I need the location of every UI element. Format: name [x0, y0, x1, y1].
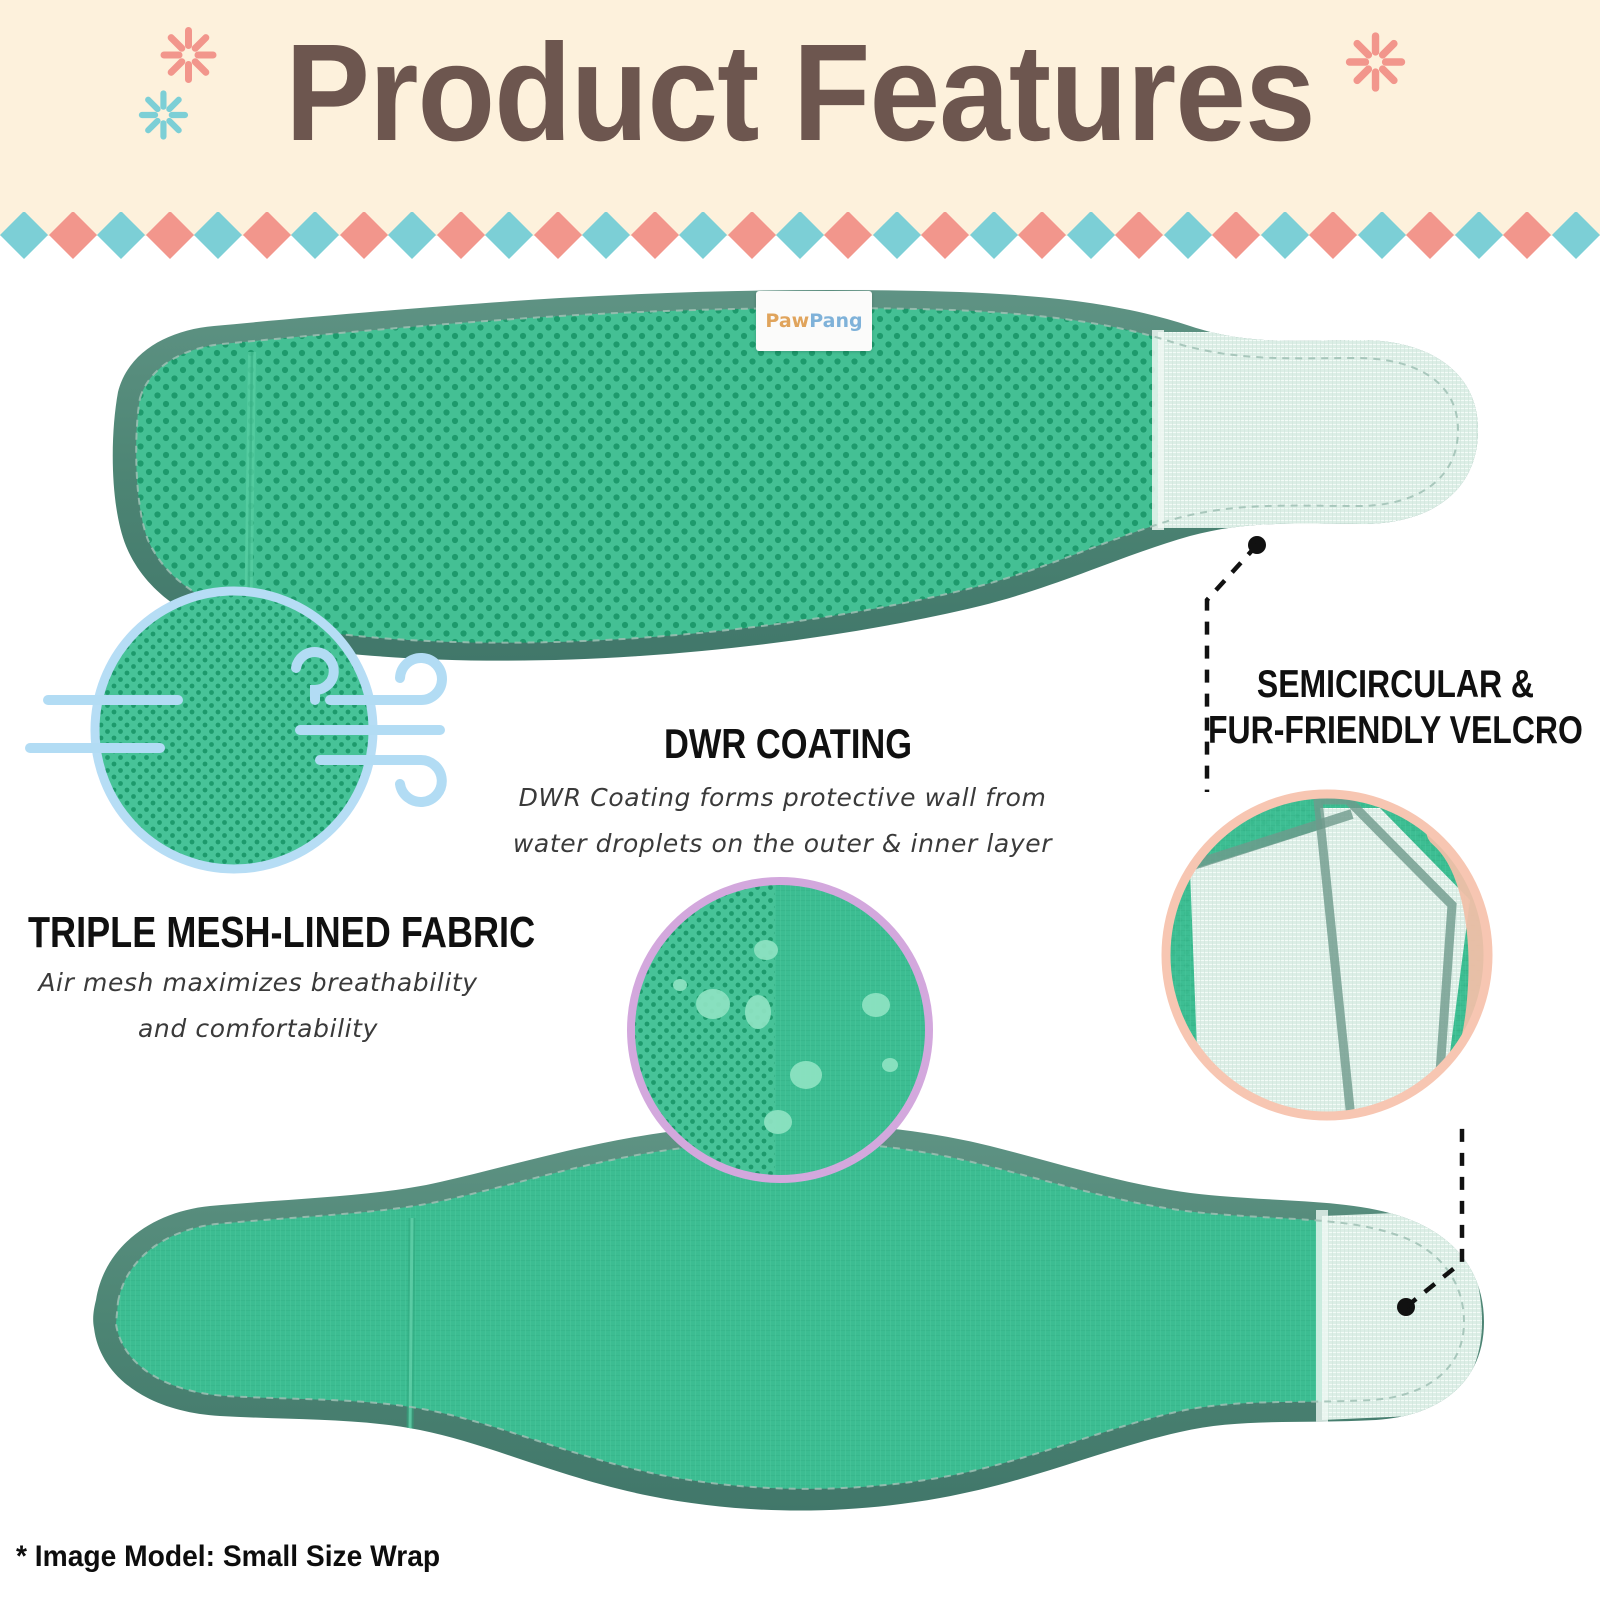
diamond-shape: [1309, 212, 1357, 259]
diamond-shape: [776, 212, 824, 259]
feature-body-line1: DWR Coating forms protective wall from: [490, 775, 1075, 821]
diamond-shape: [1406, 212, 1454, 259]
diamond-shape: [1115, 212, 1163, 259]
feature-title-dwr: DWR COATING: [664, 720, 912, 768]
diamond-shape: [97, 212, 145, 259]
diamond-shape: [534, 212, 582, 259]
diamond-shape: [679, 212, 727, 259]
product-wrap-bottom: [93, 1123, 1484, 1510]
feature-body-dwr: DWR Coating forms protective wall from w…: [490, 775, 1075, 867]
feature-title-triple-mesh: TRIPLE MESH-LINED FABRIC: [28, 908, 535, 958]
brand-pang-text: Pang: [809, 310, 862, 332]
diamond-shape: [437, 212, 485, 259]
footnote-text: * Image Model: Small Size Wrap: [16, 1540, 440, 1574]
diamond-shape: [630, 212, 678, 259]
leader-line-velcro-bottom: [1397, 1118, 1462, 1316]
feature-body-line2: water droplets on the outer & inner laye…: [490, 821, 1075, 867]
callout-velcro: [1160, 788, 1500, 1128]
feature-title-line1: SEMICIRCULAR &: [1208, 662, 1583, 708]
diamond-shape: [1358, 212, 1406, 259]
infographic-page: Product Features: [0, 0, 1600, 1600]
diamond-shape: [1503, 212, 1551, 259]
feature-body-line2: and comfortability: [8, 1006, 508, 1052]
velcro-pad-bottom: [1322, 1212, 1482, 1420]
diamond-shape: [291, 212, 339, 259]
diamond-shape: [340, 212, 388, 259]
water-droplets-icon: [673, 940, 898, 1134]
diamond-shape: [873, 212, 921, 259]
brand-paw-text: Paw: [765, 310, 809, 332]
feature-body-triple-mesh: Air mesh maximizes breathability and com…: [8, 960, 508, 1052]
diamond-shape: [243, 212, 291, 259]
diamond-shape: [1018, 212, 1066, 259]
diamond-shape: [1552, 212, 1600, 259]
feature-title-velcro: SEMICIRCULAR & FUR-FRIENDLY VELCRO: [1208, 662, 1583, 754]
diamond-shape: [1212, 212, 1260, 259]
header-banner: Product Features: [0, 0, 1600, 212]
diamond-shape: [824, 212, 872, 259]
diamond-shape: [970, 212, 1018, 259]
brand-tag: PawPang: [756, 291, 872, 351]
diamond-shape: [388, 212, 436, 259]
diamond-shape: [727, 212, 775, 259]
feature-body-line1: Air mesh maximizes breathability: [8, 960, 508, 1006]
diamond-shape: [582, 212, 630, 259]
diamond-shape: [146, 212, 194, 259]
callout-dwr-coating: [625, 875, 945, 1185]
callout-triple-mesh: [30, 591, 442, 869]
diamond-shape: [194, 212, 242, 259]
diamond-divider: [0, 212, 1600, 260]
diamond-shape: [1455, 212, 1503, 259]
diamond-shape: [1164, 212, 1212, 259]
velcro-pad-top: [1158, 332, 1478, 528]
page-title: Product Features: [64, 18, 1536, 168]
diamond-shape: [0, 212, 48, 259]
diamond-shape: [921, 212, 969, 259]
diamond-shape: [49, 212, 97, 259]
wind-icon: [30, 652, 442, 802]
diamond-shape: [1067, 212, 1115, 259]
diamond-shape: [1261, 212, 1309, 259]
diamond-shape: [485, 212, 533, 259]
feature-title-line2: FUR-FRIENDLY VELCRO: [1208, 708, 1583, 754]
